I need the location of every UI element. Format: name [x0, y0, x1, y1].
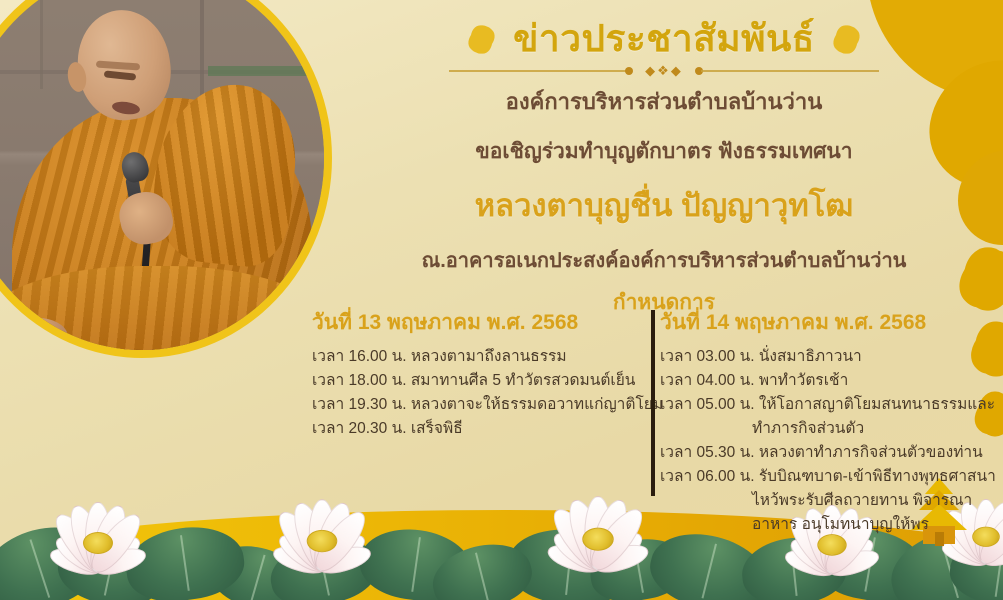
schedule-column-day1: วันที่ 13 พฤษภาคม พ.ศ. 2568 เวลา 16.00 น… — [296, 306, 641, 441]
schedule-list-day1: เวลา 16.00 น. หลวงตามาถึงลานธรรมเวลา 18.… — [296, 345, 641, 441]
divider-center-ornament: ◆❖◆ — [645, 64, 683, 78]
lotus-core — [582, 528, 614, 551]
schedule-column-day2: วันที่ 14 พฤษภาคม พ.ศ. 2568 เวลา 03.00 น… — [656, 306, 996, 537]
monk-portrait-photo — [0, 0, 332, 358]
schedule-item: เวลา 06.00 น. รับบิณฑบาต-เข้าพิธีทางพุทธ… — [656, 465, 996, 537]
schedule-item-text: เวลา 20.30 น. เสร็จพิธี — [312, 420, 463, 437]
schedule-item: เวลา 04.00 น. พาทำวัตรเช้า — [656, 369, 996, 393]
schedule-item-text: เวลา 18.00 น. สมาทานศีล 5 ทำวัตรสวดมนต์เ… — [312, 372, 635, 389]
quatrefoil-icon-left — [468, 26, 495, 53]
schedule-item: เวลา 18.00 น. สมาทานศีล 5 ทำวัตรสวดมนต์เ… — [296, 369, 641, 393]
schedule-item: เวลา 16.00 น. หลวงตามาถึงลานธรรม — [296, 345, 641, 369]
schedule-item: เวลา 20.30 น. เสร็จพิธี — [296, 417, 641, 441]
schedule-list-day2: เวลา 03.00 น. นั่งสมาธิภาวนาเวลา 04.00 น… — [656, 345, 996, 537]
poster-title: ข่าวประชาสัมพันธ์ — [513, 18, 815, 61]
schedule-item-continuation: ทำภารกิจส่วนตัว — [660, 417, 996, 441]
column-divider — [651, 310, 655, 496]
schedule-section: วันที่ 13 พฤษภาคม พ.ศ. 2568 เวลา 16.00 น… — [296, 306, 996, 516]
schedule-item: เวลา 05.00 น. ให้โอกาสญาติโยมสนทนาธรรมแล… — [656, 393, 996, 441]
lotus-core — [817, 534, 846, 556]
schedule-item-text: เวลา 05.00 น. ให้โอกาสญาติโยมสนทนาธรรมแล… — [660, 396, 995, 413]
schedule-date-day2: วันที่ 14 พฤษภาคม พ.ศ. 2568 — [656, 306, 996, 339]
schedule-item-text: เวลา 16.00 น. หลวงตามาถึงลานธรรม — [312, 348, 567, 365]
organization-name: องค์การบริหารส่วนตำบลบ้านว่าน — [330, 84, 998, 119]
poster-canvas: ข่าวประชาสัมพันธ์ ◆❖◆ องค์การบริหารส่วนต… — [0, 0, 1003, 600]
schedule-item: เวลา 05.30 น. หลวงตาทำภารกิจส่วนตัวของท่… — [656, 441, 996, 465]
monk-name: หลวงตาบุญชื่น ปัญญาวุทโฒ — [330, 180, 998, 230]
schedule-item-text: เวลา 06.00 น. รับบิณฑบาต-เข้าพิธีทางพุทธ… — [660, 468, 996, 485]
title-divider-ornament: ◆❖◆ — [449, 64, 879, 78]
schedule-item-continuation: ไหว้พระรับศีลถวายทาน พิจารณา — [660, 489, 996, 513]
schedule-item-text: เวลา 05.30 น. หลวงตาทำภารกิจส่วนตัวของท่… — [660, 444, 983, 461]
schedule-item-text: เวลา 19.30 น. หลวงตาจะให้ธรรมดอวาทแก่ญาต… — [312, 396, 663, 413]
schedule-item-text: เวลา 03.00 น. นั่งสมาธิภาวนา — [660, 348, 862, 365]
lotus-flower — [28, 492, 168, 588]
invitation-line: ขอเชิญร่วมทำบุญตักบาตร ฟังธรรมเทศนา — [330, 135, 998, 168]
venue-line: ณ.อาคารอเนกประสงค์องค์การบริหารส่วนตำบลบ… — [330, 244, 998, 276]
poster-header: ข่าวประชาสัมพันธ์ ◆❖◆ องค์การบริหารส่วนต… — [330, 18, 998, 319]
schedule-item: เวลา 03.00 น. นั่งสมาธิภาวนา — [656, 345, 996, 369]
schedule-item-text: เวลา 04.00 น. พาทำวัตรเช้า — [660, 372, 848, 389]
schedule-date-day1: วันที่ 13 พฤษภาคม พ.ศ. 2568 — [296, 306, 641, 339]
title-row: ข่าวประชาสัมพันธ์ — [330, 18, 998, 61]
lotus-core — [83, 532, 113, 554]
quatrefoil-icon-right — [833, 26, 860, 53]
schedule-item-continuation: อาหาร อนุโมทนาบุญให้พร — [660, 513, 996, 537]
lotus-core — [307, 530, 338, 552]
schedule-item: เวลา 19.30 น. หลวงตาจะให้ธรรมดอวาทแก่ญาต… — [296, 393, 641, 417]
